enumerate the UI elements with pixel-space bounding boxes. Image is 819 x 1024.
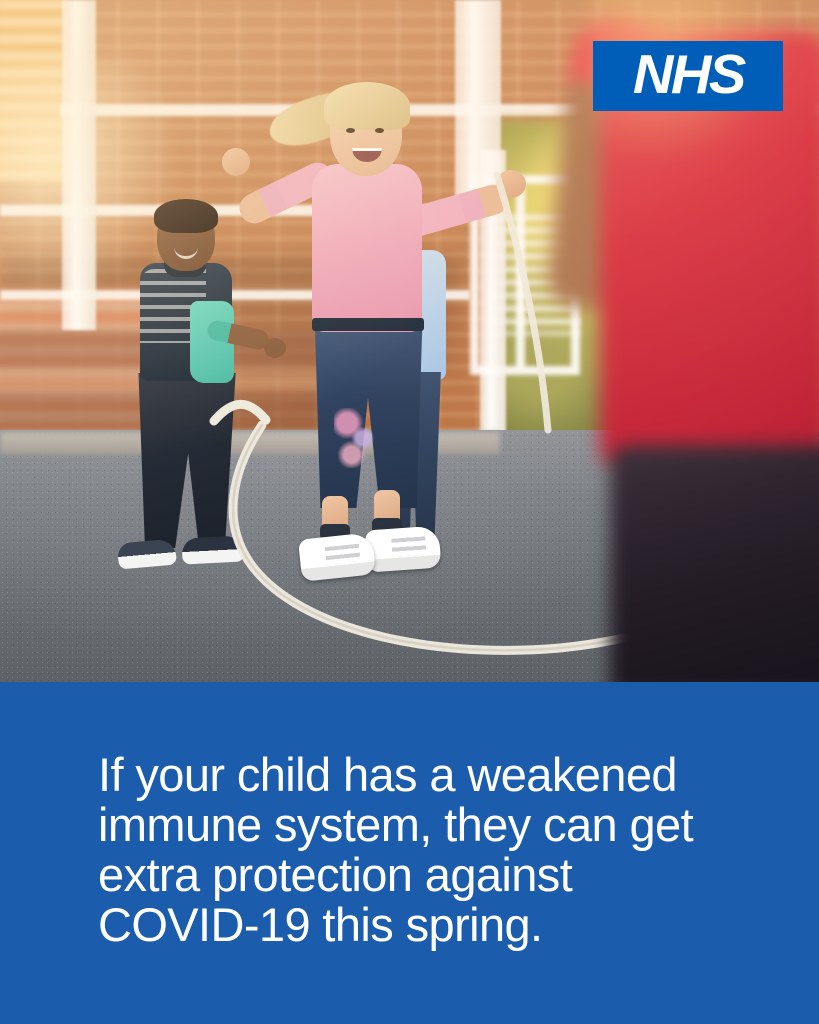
- girl-jeans-embroidery: [334, 408, 378, 468]
- headline-line-2: immune system, they can get: [98, 800, 738, 850]
- headline: If your child has a weakened immune syst…: [98, 750, 738, 950]
- girl-trainer-left-velcro: [325, 544, 361, 565]
- boy-shoe-left: [117, 539, 177, 570]
- message-panel: If your child has a weakened immune syst…: [0, 682, 819, 1024]
- boy-hair: [154, 199, 218, 233]
- girl-hair: [324, 82, 410, 130]
- nhs-campaign-poster: NHS If your child has a weakened immune …: [0, 0, 819, 1024]
- girl-belt: [312, 318, 424, 331]
- nhs-logo: NHS: [593, 41, 783, 111]
- girl-trainer-right: [365, 525, 442, 572]
- headline-line-3: extra protection against: [98, 850, 738, 900]
- girl-jumping-rope: [238, 78, 538, 578]
- girl-trainer-right-velcro: [391, 536, 426, 556]
- girl-pink-top: [312, 164, 422, 332]
- headline-line-1: If your child has a weakened: [98, 750, 738, 800]
- white-pillar-left: [62, 0, 96, 330]
- boy-trousers: [132, 373, 240, 548]
- boy-turning-rope: [112, 205, 247, 580]
- girl-eye-right: [375, 128, 384, 133]
- boy-shoe-right: [181, 535, 244, 564]
- girl-fist-right: [496, 170, 526, 198]
- girl-fist-left: [222, 148, 250, 176]
- nhs-logo-text: NHS: [633, 47, 744, 105]
- foreground-child-jeans: [610, 445, 819, 682]
- headline-line-4: COVID-19 this spring.: [98, 900, 738, 950]
- girl-trainer-left: [298, 532, 376, 582]
- girl-eye-left: [346, 128, 355, 133]
